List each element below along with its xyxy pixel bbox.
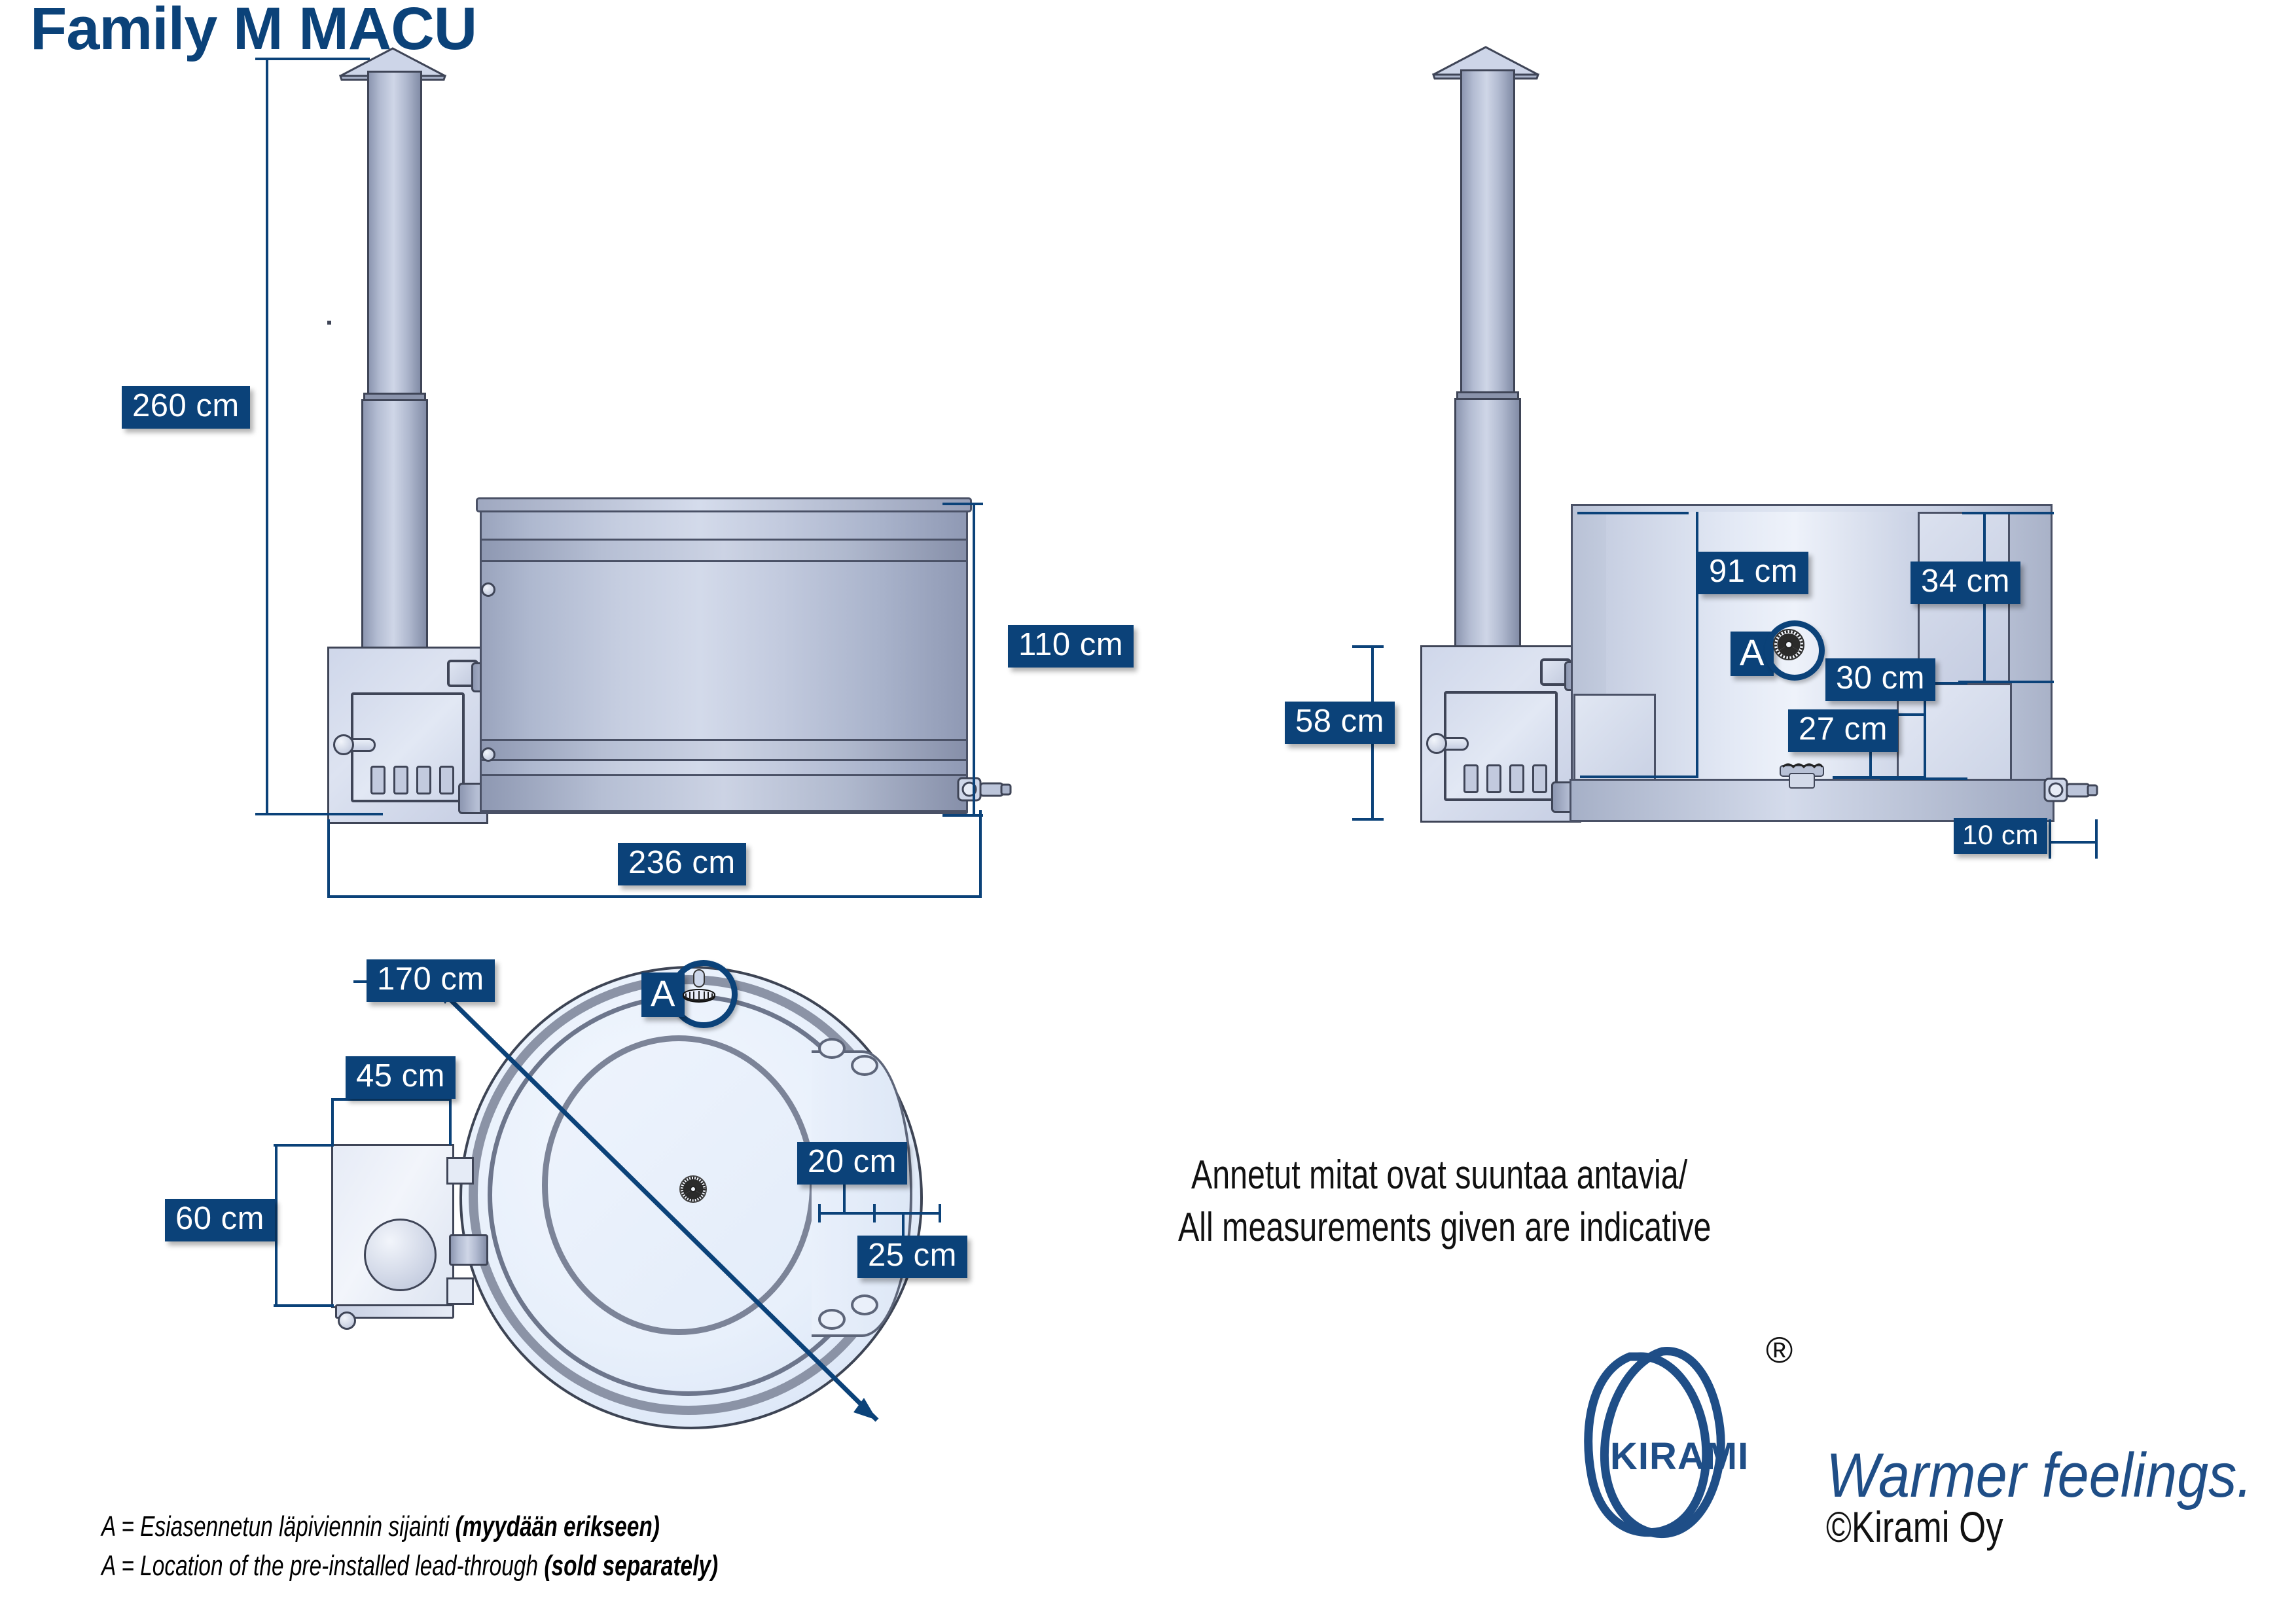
dim-line-60 xyxy=(275,1144,278,1307)
dim-ext-line-top-260 xyxy=(255,58,370,60)
tub-rim-edge xyxy=(476,497,972,512)
kirami-wordmark: KIRAMI xyxy=(1610,1435,1749,1478)
tub-band-top xyxy=(482,539,966,562)
stove-firebox xyxy=(327,321,331,325)
dim-ext-left-45 xyxy=(331,1098,334,1145)
dim-line-236 xyxy=(327,895,982,898)
lead-through-icon xyxy=(1773,629,1804,660)
dimension-stove-width: 45 cm xyxy=(346,1056,456,1099)
dim-ext-line-top-110 xyxy=(942,503,983,505)
dimension-drain-offset: 10 cm xyxy=(1954,818,2047,854)
note-indicative-en: All measurements given are indicative xyxy=(1178,1203,1711,1253)
tub-band-lower xyxy=(482,739,966,761)
stove-vent-slot xyxy=(393,766,408,794)
dim-ext-bottom-91 xyxy=(1580,776,1698,778)
kirami-slogan: Warmer feelings. xyxy=(1826,1440,2252,1512)
dim-ext-right-45 xyxy=(449,1098,452,1145)
tub-band-base xyxy=(482,774,966,812)
dimension-footwell-height: 27 cm xyxy=(1788,709,1898,752)
legend-fi: A = Esiasennetun läpiviennin sijainti (m… xyxy=(101,1508,660,1544)
stove-vent-slot xyxy=(439,766,454,794)
stove-vent-slot xyxy=(370,766,386,794)
tub-fastener-icon xyxy=(481,582,495,597)
dimension-stove-height: 58 cm xyxy=(1285,702,1395,744)
dim-ext-top-91 xyxy=(1577,512,1689,514)
section-chimney-upper-pipe xyxy=(1460,69,1515,401)
dim-ext-top-58 xyxy=(1352,645,1384,648)
dim-ext-bottom-58 xyxy=(1352,818,1384,821)
legend-en-plain: A = Location of the pre-installed lead-t… xyxy=(101,1550,544,1582)
dim-ext-left-10 xyxy=(2049,819,2051,859)
tub-fastener-icon xyxy=(481,747,495,762)
section-stove-vent-slot xyxy=(1509,764,1524,793)
dim-ext-right-236 xyxy=(979,810,982,895)
dimension-total-width: 236 cm xyxy=(618,843,746,885)
dim-ext-top-34 xyxy=(1962,512,2054,514)
tub-shell xyxy=(480,503,968,814)
dimension-stove-depth: 60 cm xyxy=(165,1199,275,1241)
drawing-sheet: Family M MACU xyxy=(0,0,2296,1623)
registered-trademark-icon: ® xyxy=(1766,1329,1793,1371)
stove-vent-slot xyxy=(416,766,431,794)
dim-tick-25-right xyxy=(939,1204,941,1222)
dim-line-10 xyxy=(2049,841,2098,844)
dim-ext-left-236 xyxy=(327,819,330,897)
section-bottom-drain-icon xyxy=(1778,759,1826,791)
section-stove-door-knob-icon[interactable] xyxy=(1426,733,1447,754)
section-chimney-lower-pipe xyxy=(1454,398,1521,654)
section-stove-vent-slot xyxy=(1486,764,1501,793)
dimension-seat-span-inner: 20 cm xyxy=(797,1142,907,1185)
dim-ext-bottom-34 xyxy=(1958,681,2054,683)
dim-ext-bottom-27 xyxy=(1833,776,1924,779)
dim-ext-right-10 xyxy=(2095,819,2098,859)
dim-line-110 xyxy=(973,503,975,817)
dimension-seat-height: 30 cm xyxy=(1825,658,1935,701)
dimension-seat-width: 34 cm xyxy=(1910,562,2020,604)
dimension-seat-span-outer: 25 cm xyxy=(857,1236,967,1278)
kirami-logo-mark-icon: KIRAMI xyxy=(1564,1332,1780,1541)
drain-valve-icon xyxy=(957,769,1016,810)
section-drain-valve-icon xyxy=(2043,770,2102,810)
note-indicative-fi: Annetut mitat ovat suuntaa antavia/ xyxy=(1191,1150,1687,1200)
dim-ext-bottom-60 xyxy=(274,1304,334,1307)
dim-tick-20-left xyxy=(818,1204,821,1222)
dimension-tub-diameter: 170 cm xyxy=(367,959,495,1002)
chimney-upper-pipe xyxy=(367,71,422,402)
stove-door-knob-icon[interactable] xyxy=(333,734,354,755)
dim-line-25 xyxy=(876,1212,941,1215)
legend-fi-bold: (myydään erikseen) xyxy=(456,1510,660,1543)
top-marker-a-label: A xyxy=(641,972,685,1017)
legend-fi-plain: A = Esiasennetun läpiviennin sijainti xyxy=(101,1510,456,1543)
dim-ext-top-60 xyxy=(274,1144,334,1147)
section-footwell-step xyxy=(1573,694,1656,784)
legend-en: A = Location of the pre-installed lead-t… xyxy=(101,1548,718,1584)
dimension-tub-height: 110 cm xyxy=(1008,625,1134,668)
section-stove-vent-slot xyxy=(1532,764,1547,793)
chimney-lower-pipe xyxy=(361,399,428,655)
section-stove-vent-slot xyxy=(1463,764,1479,793)
dim-ext-line-bottom-260 xyxy=(255,813,383,815)
dim-ext-line-bottom-110 xyxy=(942,814,983,817)
dim-line-20 xyxy=(818,1212,876,1215)
dim-line-260 xyxy=(266,58,268,814)
dimension-total-height: 260 cm xyxy=(122,386,250,429)
top-lead-through-icon xyxy=(681,969,717,1009)
legend-en-bold: (sold separately) xyxy=(544,1550,718,1582)
dimension-inner-depth: 91 cm xyxy=(1698,552,1808,594)
kirami-copyright: ©Kirami Oy xyxy=(1826,1502,2003,1552)
